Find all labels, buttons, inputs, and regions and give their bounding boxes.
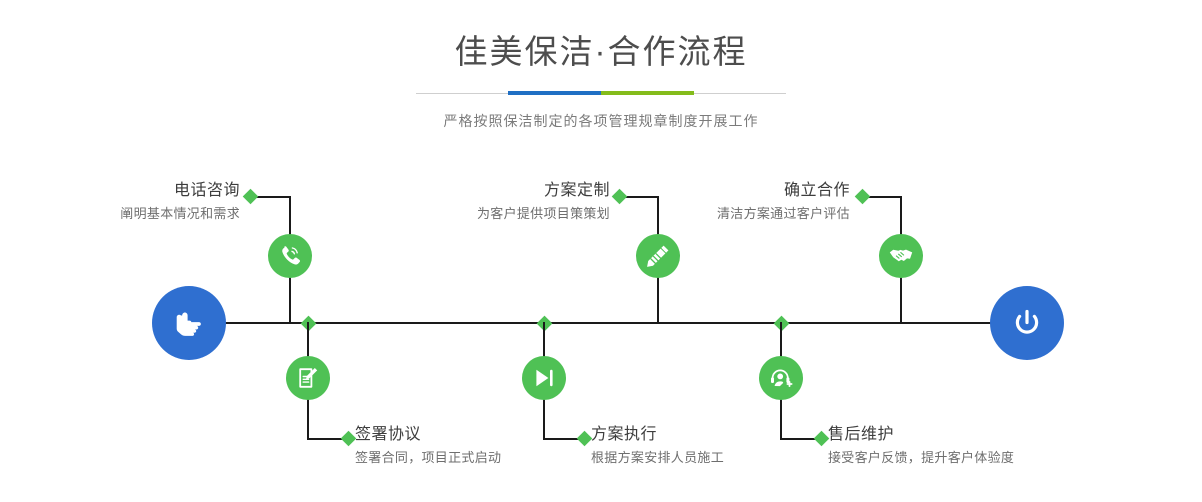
step-desc-4: 根据方案安排人员施工 — [591, 448, 821, 468]
power-icon — [1007, 303, 1047, 343]
step-icon-6[interactable] — [759, 356, 803, 400]
flow-end-node[interactable] — [990, 286, 1064, 360]
step-title-1: 电话咨询 — [35, 180, 240, 202]
play-skip-icon — [531, 365, 557, 391]
step-label-3: 方案定制 为客户提供项目策策划 — [405, 180, 610, 224]
step-desc-6: 接受客户反馈，提升客户体验度 — [828, 448, 1088, 468]
flow-start-node[interactable] — [152, 286, 226, 360]
label-marker-2 — [341, 431, 357, 447]
step-icon-2[interactable] — [286, 356, 330, 400]
phone-call-icon — [277, 243, 303, 269]
step-icon-5[interactable] — [879, 234, 923, 278]
step-label-4: 方案执行 根据方案安排人员施工 — [591, 424, 821, 468]
step-title-6: 售后维护 — [828, 424, 1088, 446]
step-label-5: 确立合作 清洁方案通过客户评估 — [645, 180, 850, 224]
step-title-4: 方案执行 — [591, 424, 821, 446]
divider-green-segment — [601, 91, 694, 95]
step-desc-1: 阐明基本情况和需求 — [35, 204, 240, 224]
document-edit-icon — [295, 365, 321, 391]
timeline-spine — [208, 322, 1020, 324]
step-label-2: 签署协议 签署合同，项目正式启动 — [355, 424, 585, 468]
step-icon-3[interactable] — [636, 234, 680, 278]
pencil-ruler-icon — [645, 243, 671, 269]
step-icon-4[interactable] — [522, 356, 566, 400]
step-label-6: 售后维护 接受客户反馈，提升客户体验度 — [828, 424, 1088, 468]
divider-blue-segment — [508, 91, 601, 95]
step-desc-2: 签署合同，项目正式启动 — [355, 448, 585, 468]
step-title-5: 确立合作 — [645, 180, 850, 202]
step-desc-5: 清洁方案通过客户评估 — [645, 204, 850, 224]
handshake-icon — [888, 243, 914, 269]
customer-support-icon — [768, 365, 794, 391]
flow-diagram: 电话咨询 阐明基本情况和需求 — [0, 150, 1202, 502]
step-title-3: 方案定制 — [405, 180, 610, 202]
label-marker-3 — [612, 189, 628, 205]
pointing-hand-icon — [169, 303, 209, 343]
header: 佳美保洁·合作流程 严格按照保洁制定的各项管理规章制度开展工作 — [0, 30, 1202, 132]
label-marker-5 — [855, 189, 871, 205]
step-icon-1[interactable] — [268, 234, 312, 278]
step-desc-3: 为客户提供项目策策划 — [405, 204, 610, 224]
page-title: 佳美保洁·合作流程 — [0, 30, 1202, 74]
step-label-1: 电话咨询 阐明基本情况和需求 — [35, 180, 240, 224]
page-subtitle: 严格按照保洁制定的各项管理规章制度开展工作 — [0, 110, 1202, 132]
process-flow-infographic: 佳美保洁·合作流程 严格按照保洁制定的各项管理规章制度开展工作 — [0, 0, 1202, 502]
label-marker-1 — [243, 189, 259, 205]
title-divider — [416, 88, 786, 100]
step-title-2: 签署协议 — [355, 424, 585, 446]
